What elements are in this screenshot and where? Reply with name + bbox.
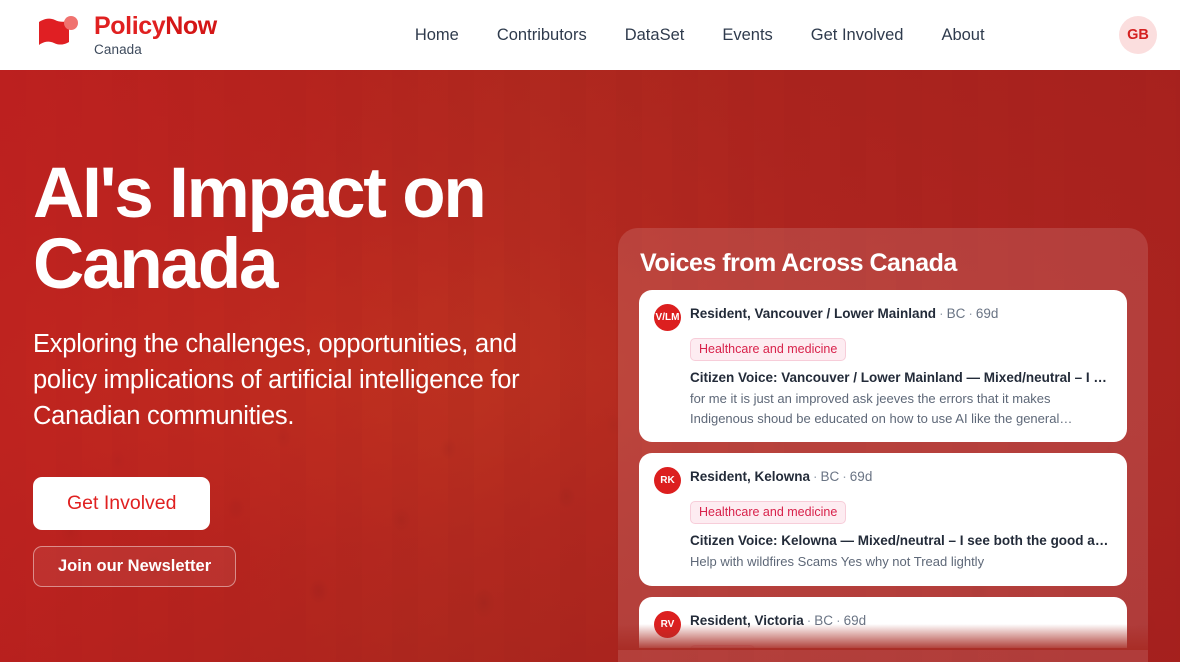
meta-separator-icon: · xyxy=(807,613,812,628)
brand-subtitle: Canada xyxy=(94,43,217,57)
main-navigation: Home Contributors DataSet Events Get Inv… xyxy=(415,26,985,45)
avatar: RK xyxy=(654,467,681,494)
book-flag-logo-icon xyxy=(33,14,83,56)
hero-content: AI's Impact on Canada Exploring the chal… xyxy=(33,158,593,587)
voice-card-body: Healthcare and medicine Citizen Voice: V… xyxy=(690,331,1112,428)
voice-card-title: Citizen Voice: Kelowna — Mixed/neutral –… xyxy=(690,533,1112,548)
hero-subtitle: Exploring the challenges, opportunities,… xyxy=(33,326,553,435)
nav-item-get-involved[interactable]: Get Involved xyxy=(811,26,904,45)
voice-card-body: Healthcare and medicine Citizen Voice: K… xyxy=(690,494,1112,572)
voices-panel: Voices from Across Canada V/LM Resident,… xyxy=(618,228,1148,662)
brand-logo[interactable]: PolicyNow Canada xyxy=(33,14,217,57)
meta-separator-icon: · xyxy=(968,306,973,321)
brand-text: PolicyNow Canada xyxy=(94,14,217,57)
voice-card-title: Citizen Voice: Vancouver / Lower Mainlan… xyxy=(690,370,1112,385)
site-header: PolicyNow Canada Home Contributors DataS… xyxy=(0,0,1180,70)
meta-separator-icon: · xyxy=(836,613,841,628)
voices-list[interactable]: V/LM Resident, Vancouver / Lower Mainlan… xyxy=(639,290,1127,648)
user-avatar[interactable]: GB xyxy=(1119,16,1157,54)
nav-item-dataset[interactable]: DataSet xyxy=(625,26,685,45)
status-badge: Healthcare and medicine xyxy=(690,501,846,524)
voice-card-meta: Resident, Kelowna·BC·69d xyxy=(690,466,872,484)
get-involved-button[interactable]: Get Involved xyxy=(33,477,210,530)
voice-card-head: RV Resident, Victoria·BC·69d xyxy=(654,610,1112,638)
avatar: RV xyxy=(654,611,681,638)
join-newsletter-button[interactable]: Join our Newsletter xyxy=(33,546,236,587)
voice-card-excerpt: for me it is just an improved ask jeeves… xyxy=(690,389,1112,428)
brand-name: PolicyNow xyxy=(94,14,217,39)
voice-card-meta: Resident, Victoria·BC·69d xyxy=(690,610,866,628)
voice-card-body: Not sure Citizen Voice: Victoria — Mostl… xyxy=(690,638,1112,649)
voice-card-excerpt: Help with wildfires Scams Yes why not Tr… xyxy=(690,552,1112,572)
hero-section: AI's Impact on Canada Exploring the chal… xyxy=(0,70,1180,662)
voices-panel-title: Voices from Across Canada xyxy=(618,228,1148,278)
avatar: V/LM xyxy=(654,304,681,331)
list-item[interactable]: V/LM Resident, Vancouver / Lower Mainlan… xyxy=(639,290,1127,442)
status-badge: Healthcare and medicine xyxy=(690,338,846,361)
hero-title: AI's Impact on Canada xyxy=(33,158,593,300)
voice-card-meta: Resident, Vancouver / Lower Mainland·BC·… xyxy=(690,303,998,321)
meta-separator-icon: · xyxy=(939,306,944,321)
voices-stat: 1,011Canadians have shared their thought… xyxy=(618,650,1148,662)
nav-item-contributors[interactable]: Contributors xyxy=(497,26,587,45)
nav-item-about[interactable]: About xyxy=(941,26,984,45)
hero-buttons: Get Involved Join our Newsletter xyxy=(33,477,593,587)
voice-card-head: V/LM Resident, Vancouver / Lower Mainlan… xyxy=(654,303,1112,331)
list-item[interactable]: RK Resident, Kelowna·BC·69d Healthcare a… xyxy=(639,453,1127,586)
nav-item-home[interactable]: Home xyxy=(415,26,459,45)
list-item[interactable]: RV Resident, Victoria·BC·69d Not sure Ci… xyxy=(639,597,1127,649)
nav-item-events[interactable]: Events xyxy=(722,26,772,45)
status-badge: Not sure xyxy=(690,645,755,649)
meta-separator-icon: · xyxy=(842,469,847,484)
meta-separator-icon: · xyxy=(813,469,818,484)
voice-card-head: RK Resident, Kelowna·BC·69d xyxy=(654,466,1112,494)
